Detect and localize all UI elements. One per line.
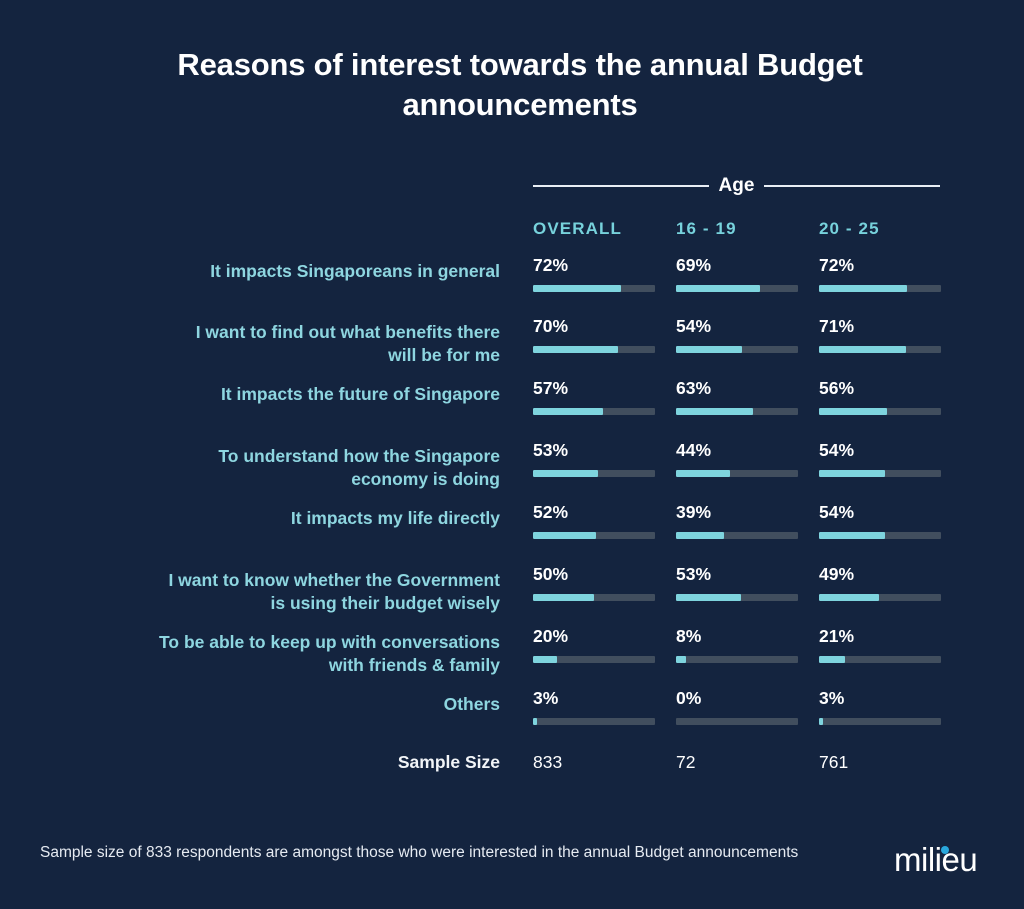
data-cell: 69% [676, 257, 798, 292]
table-row: I want to find out what benefits therewi… [0, 318, 1024, 378]
bar-fill [819, 594, 879, 601]
bar-track [676, 408, 798, 415]
bar-track [676, 656, 798, 663]
table-row: It impacts Singaporeans in general72%69%… [0, 257, 1024, 317]
infographic-root: Reasons of interest towards the annual B… [0, 0, 1024, 909]
bar-track [533, 656, 655, 663]
data-cell: 44% [676, 442, 798, 477]
bar-fill [533, 346, 618, 353]
bar-track [533, 532, 655, 539]
data-cell: 39% [676, 504, 798, 539]
data-cell: 63% [676, 380, 798, 415]
data-cell: 56% [819, 380, 941, 415]
data-cell: 49% [819, 566, 941, 601]
bar-fill [533, 532, 596, 539]
bar-track [533, 718, 655, 725]
bar-track [819, 532, 941, 539]
bar-fill [533, 408, 603, 415]
row-label: It impacts my life directly [60, 507, 500, 530]
data-cell: 70% [533, 318, 655, 353]
row-label: I want to know whether the Governmentis … [60, 569, 500, 615]
bar-fill [676, 594, 741, 601]
bar-track [676, 532, 798, 539]
bar-fill [676, 285, 760, 292]
row-label-line: It impacts my life directly [60, 507, 500, 530]
bar-fill [676, 656, 686, 663]
cell-value: 53% [676, 566, 798, 584]
bar-fill [819, 470, 885, 477]
row-label-line: To understand how the Singapore [60, 445, 500, 468]
data-cell: 72% [819, 257, 941, 292]
cell-value: 52% [533, 504, 655, 522]
bar-fill [676, 532, 724, 539]
cell-value: 50% [533, 566, 655, 584]
bar-fill [676, 408, 753, 415]
table-row: I want to know whether the Governmentis … [0, 566, 1024, 626]
cell-value: 54% [676, 318, 798, 336]
sample-size-label: Sample Size [60, 752, 500, 773]
data-cell: 54% [819, 504, 941, 539]
bar-track [819, 470, 941, 477]
row-label: To be able to keep up with conversations… [60, 631, 500, 677]
sample-size-value: 72 [676, 752, 798, 773]
data-cell: 3% [533, 690, 655, 725]
bar-fill [533, 656, 557, 663]
row-label-line: It impacts the future of Singapore [60, 383, 500, 406]
cell-value: 44% [676, 442, 798, 460]
table-row: Others3%0%3% [0, 690, 1024, 750]
data-cell: 8% [676, 628, 798, 663]
bar-track [819, 718, 941, 725]
row-label-line: Others [60, 693, 500, 716]
cell-value: 8% [676, 628, 798, 646]
cell-value: 57% [533, 380, 655, 398]
cell-value: 20% [533, 628, 655, 646]
cell-value: 39% [676, 504, 798, 522]
cell-value: 3% [819, 690, 941, 708]
bar-fill [533, 718, 537, 725]
data-cell: 52% [533, 504, 655, 539]
sample-size-value: 833 [533, 752, 655, 773]
footnote: Sample size of 833 respondents are among… [40, 841, 800, 864]
bar-track [676, 346, 798, 353]
bar-track [676, 285, 798, 292]
bar-track [533, 470, 655, 477]
cell-value: 69% [676, 257, 798, 275]
row-label-line: with friends & family [60, 654, 500, 677]
sample-size-value: 761 [819, 752, 941, 773]
milieu-logo: milieu [894, 840, 990, 880]
bar-track [819, 594, 941, 601]
bar-fill [676, 470, 730, 477]
table-row: To be able to keep up with conversations… [0, 628, 1024, 688]
data-cell: 72% [533, 257, 655, 292]
bar-track [819, 408, 941, 415]
data-cell: 54% [819, 442, 941, 477]
bar-track [533, 346, 655, 353]
data-cell: 3% [819, 690, 941, 725]
logo-wordmark: milieu [894, 840, 977, 880]
row-label: It impacts Singaporeans in general [60, 260, 500, 283]
bar-fill [819, 408, 887, 415]
sample-size-row: Sample Size 83372761 [0, 752, 1024, 780]
cell-value: 54% [819, 442, 941, 460]
row-label: Others [60, 693, 500, 716]
bar-track [676, 718, 798, 725]
cell-value: 53% [533, 442, 655, 460]
bar-track [533, 285, 655, 292]
row-label-line: will be for me [60, 344, 500, 367]
bar-track [819, 285, 941, 292]
cell-value: 0% [676, 690, 798, 708]
bar-fill [819, 718, 823, 725]
cell-value: 70% [533, 318, 655, 336]
row-label-line: I want to find out what benefits there [60, 321, 500, 344]
bar-fill [819, 285, 907, 292]
table-row: It impacts the future of Singapore57%63%… [0, 380, 1024, 440]
data-cell: 20% [533, 628, 655, 663]
row-label: I want to find out what benefits therewi… [60, 321, 500, 367]
bar-track [819, 346, 941, 353]
row-label-line: I want to know whether the Government [60, 569, 500, 592]
row-label: To understand how the Singaporeeconomy i… [60, 445, 500, 491]
bar-fill [533, 594, 594, 601]
bar-track [819, 656, 941, 663]
cell-value: 56% [819, 380, 941, 398]
data-cell: 21% [819, 628, 941, 663]
bar-track [676, 470, 798, 477]
cell-value: 72% [819, 257, 941, 275]
row-label: It impacts the future of Singapore [60, 383, 500, 406]
cell-value: 21% [819, 628, 941, 646]
data-cell: 53% [533, 442, 655, 477]
row-label-line: economy is doing [60, 468, 500, 491]
bar-fill [819, 346, 906, 353]
bar-fill [533, 470, 598, 477]
bar-fill [533, 285, 621, 292]
data-cell: 71% [819, 318, 941, 353]
cell-value: 49% [819, 566, 941, 584]
data-cell: 54% [676, 318, 798, 353]
bar-fill [819, 656, 845, 663]
row-label-line: It impacts Singaporeans in general [60, 260, 500, 283]
row-label-line: To be able to keep up with conversations [60, 631, 500, 654]
cell-value: 63% [676, 380, 798, 398]
data-cell: 50% [533, 566, 655, 601]
table-row: It impacts my life directly52%39%54% [0, 504, 1024, 564]
bar-fill [676, 346, 742, 353]
data-cell: 53% [676, 566, 798, 601]
row-label-line: is using their budget wisely [60, 592, 500, 615]
table-row: To understand how the Singaporeeconomy i… [0, 442, 1024, 502]
bar-track [533, 594, 655, 601]
bar-fill [819, 532, 885, 539]
cell-value: 72% [533, 257, 655, 275]
cell-value: 71% [819, 318, 941, 336]
cell-value: 3% [533, 690, 655, 708]
cell-value: 54% [819, 504, 941, 522]
logo-dot-icon [941, 846, 949, 854]
data-cell: 0% [676, 690, 798, 725]
bar-track [533, 408, 655, 415]
data-cell: 57% [533, 380, 655, 415]
bar-track [676, 594, 798, 601]
